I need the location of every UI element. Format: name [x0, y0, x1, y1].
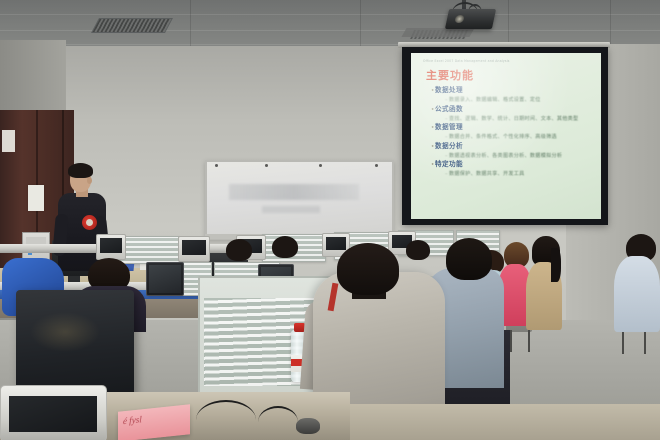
- slide-section: •数据分析 –数据透视表分析、各类图表分析、数据模拟分析: [431, 142, 601, 160]
- slide-section: •数据处理 –数据录入、数据编辑、格式设置、定位: [431, 86, 601, 104]
- whiteboard-erased-marks: [229, 184, 359, 200]
- wall-notice-paper: [2, 130, 15, 152]
- shirt-logo-icon: [82, 215, 97, 230]
- slide-title: 主要功能: [426, 67, 474, 83]
- foreground-monitor-silver: [0, 385, 107, 440]
- attendee-gray-jacket-head: [337, 243, 399, 295]
- slide-header-text: Office Excel 2007 Data Management and An…: [423, 59, 591, 63]
- whiteboard: [205, 160, 394, 240]
- power-led-icon: [28, 253, 32, 255]
- workstation-monitor: [178, 236, 210, 262]
- attendee-head: [406, 240, 430, 260]
- classroom-photo: Office Excel 2007 Data Management and An…: [0, 0, 660, 440]
- slide-section-heading: •数据处理: [431, 86, 601, 96]
- workstation-monitor: [96, 234, 126, 260]
- attendee-hair: [551, 248, 561, 282]
- slide-section-sub: –数据保护、数据共享、开发工具: [445, 170, 601, 178]
- slide-section: •公式函数 –查找、逻辑、数学、统计、日期时间、文本、其他类型: [431, 105, 601, 123]
- projector-mount-plate: [401, 28, 474, 37]
- slide-section: •特定功能 –数据保护、数据共享、开发工具: [431, 160, 601, 178]
- presenter-hair: [68, 163, 93, 178]
- whiteboard-erased-marks-2: [262, 206, 320, 213]
- workstation-monitor: [146, 262, 184, 296]
- slide-body: •数据处理 –数据录入、数据编辑、格式设置、定位 •公式函数 –查找、逻辑、数学…: [431, 86, 601, 179]
- slide-section-sub: –数据合并、条件格式、个性化排序、高级筛选: [445, 133, 601, 141]
- attendee-head: [272, 236, 298, 258]
- slide-section-heading: •特定功能: [431, 160, 601, 170]
- projector-lens-icon: [454, 15, 465, 23]
- ceiling-projector: [445, 9, 496, 29]
- ceiling-vent-icon: [91, 18, 173, 33]
- slide-section: •数据管理 –数据合并、条件格式、个性化排序、高级筛选: [431, 123, 601, 141]
- attendee-body: [614, 256, 660, 332]
- slide-section-sub: –查找、逻辑、数学、统计、日期时间、文本、其他类型: [445, 115, 601, 123]
- slide-section-heading: •数据管理: [431, 123, 601, 133]
- slide-section-sub: –数据录入、数据编辑、格式设置、定位: [445, 96, 601, 104]
- slide-surface: Office Excel 2007 Data Management and An…: [411, 53, 601, 219]
- presenter-ear: [87, 177, 92, 184]
- projection-screen: Office Excel 2007 Data Management and An…: [402, 47, 608, 225]
- attendee-blue-shirt-head: [446, 238, 492, 280]
- pink-note-card: é fysl: [118, 404, 190, 440]
- slide-section-sub: –数据透视表分析、各类图表分析、数据模拟分析: [445, 152, 601, 160]
- computer-mouse: [296, 418, 320, 434]
- pink-note-text: é fysl: [123, 414, 142, 426]
- cabinet-notice-paper: [28, 185, 44, 211]
- slide-section-heading: •数据分析: [431, 142, 601, 152]
- desk-divider: [120, 236, 180, 264]
- attendee-head: [226, 239, 252, 261]
- slide-section-heading: •公式函数: [431, 105, 601, 115]
